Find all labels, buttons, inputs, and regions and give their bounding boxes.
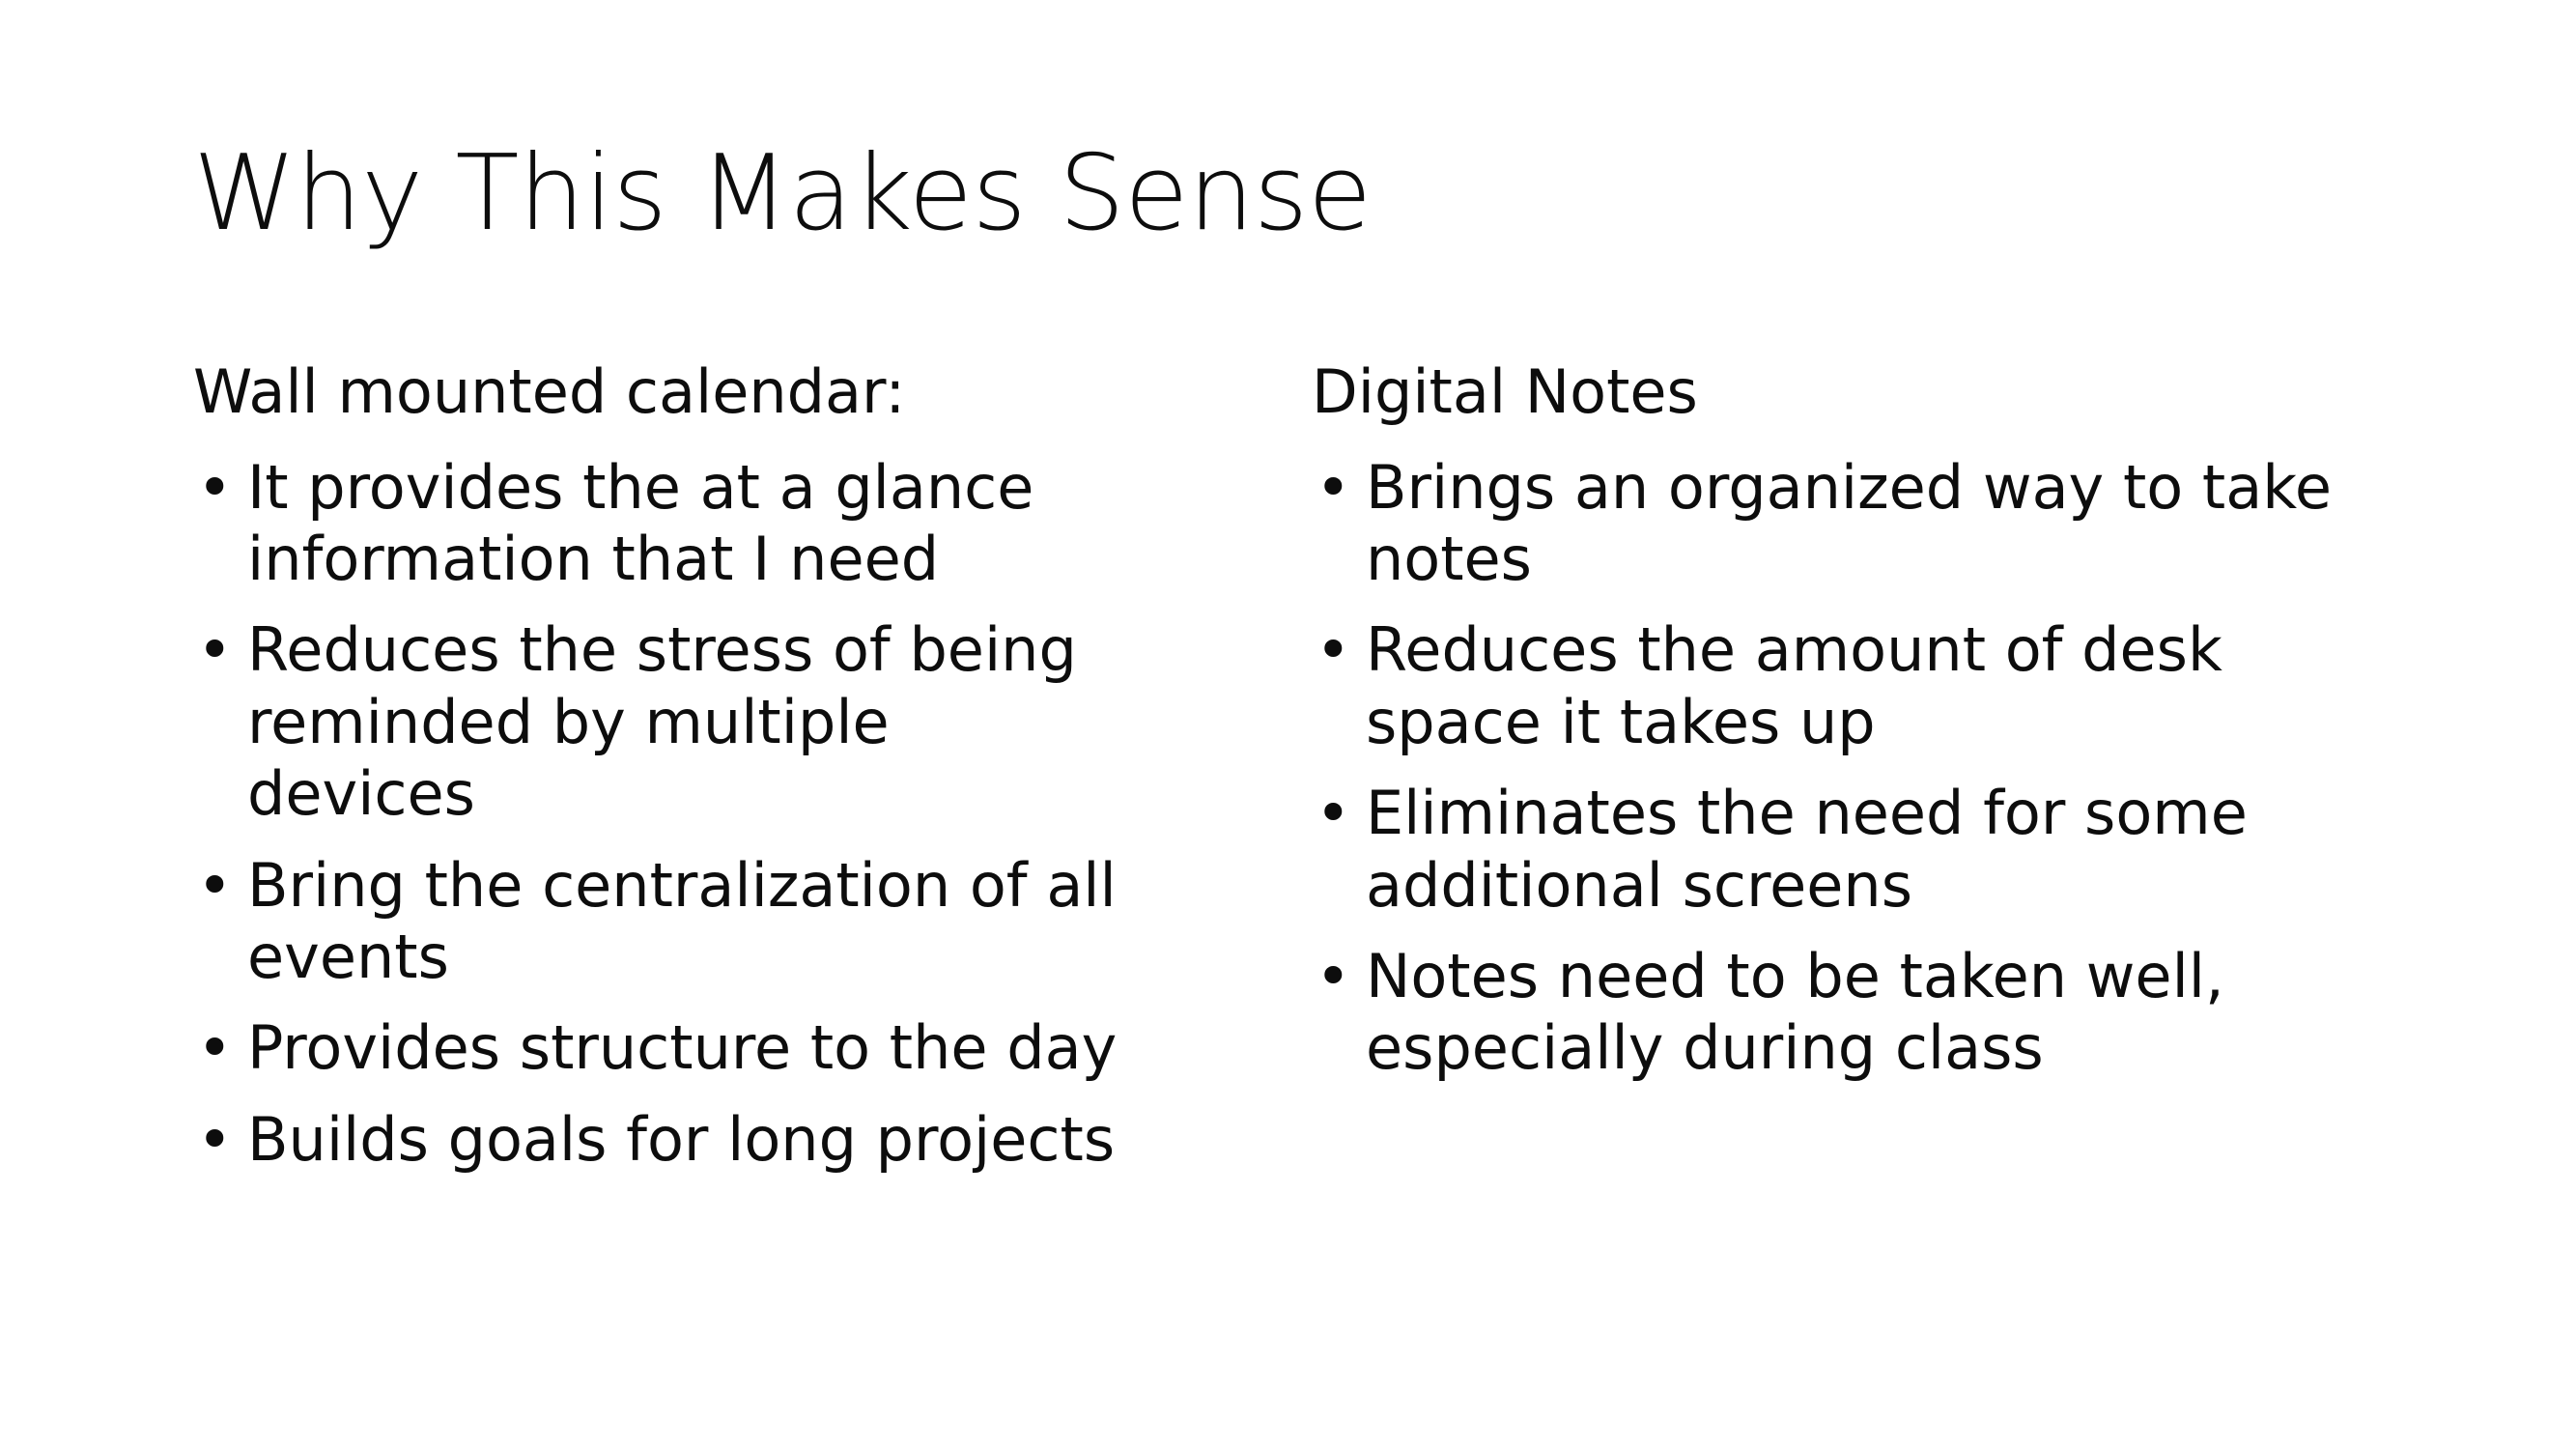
- list-item: • Reduces the amount of desk space it ta…: [1312, 614, 2384, 758]
- bullet-list-left: • It provides the at a glance informatio…: [193, 452, 1130, 1177]
- presentation-slide: Why This Makes Sense Wall mounted calend…: [0, 0, 2576, 1449]
- content-column-right: Digital Notes • Brings an organized way …: [1312, 355, 2384, 1085]
- list-item-text: Provides structure to the day: [247, 1012, 1130, 1084]
- list-item: • Provides structure to the day: [193, 1012, 1130, 1084]
- bullet-point-icon: •: [197, 1012, 236, 1084]
- list-item-text: Notes need to be taken well, especially …: [1366, 941, 2384, 1085]
- slide-title: Why This Makes Sense: [193, 133, 2395, 254]
- bullet-point-icon: •: [197, 1104, 236, 1176]
- column-heading-digital-notes: Digital Notes: [1312, 355, 2384, 429]
- column-heading-wall-mounted-calendar: Wall mounted calendar:: [193, 355, 1130, 429]
- list-item: • It provides the at a glance informatio…: [193, 452, 1130, 596]
- slide-body-columns: Wall mounted calendar: • It provides the…: [193, 355, 2395, 1176]
- list-item-text: Builds goals for long projects: [247, 1104, 1130, 1176]
- list-item-text: Brings an organized way to take notes: [1366, 452, 2384, 596]
- bullet-point-icon: •: [1316, 452, 1354, 524]
- list-item: • Eliminates the need for some additiona…: [1312, 778, 2384, 922]
- bullet-point-icon: •: [197, 850, 236, 922]
- content-column-left: Wall mounted calendar: • It provides the…: [193, 355, 1169, 1176]
- bullet-point-icon: •: [197, 452, 236, 524]
- list-item-text: Reduces the amount of desk space it take…: [1366, 614, 2384, 758]
- list-item: • Bring the centralization of all events: [193, 850, 1130, 994]
- list-item: • Notes need to be taken well, especiall…: [1312, 941, 2384, 1085]
- list-item-text: Bring the centralization of all events: [247, 850, 1130, 994]
- list-item-text: Reduces the stress of being reminded by …: [247, 614, 1130, 830]
- bullet-list-right: • Brings an organized way to take notes …: [1312, 452, 2384, 1085]
- list-item-text: Eliminates the need for some additional …: [1366, 778, 2384, 922]
- list-item: • Builds goals for long projects: [193, 1104, 1130, 1176]
- bullet-point-icon: •: [197, 614, 236, 686]
- list-item: • Reduces the stress of being reminded b…: [193, 614, 1130, 830]
- bullet-point-icon: •: [1316, 778, 1354, 849]
- bullet-point-icon: •: [1316, 941, 1354, 1012]
- bullet-point-icon: •: [1316, 614, 1354, 686]
- list-item: • Brings an organized way to take notes: [1312, 452, 2384, 596]
- list-item-text: It provides the at a glance information …: [247, 452, 1130, 596]
